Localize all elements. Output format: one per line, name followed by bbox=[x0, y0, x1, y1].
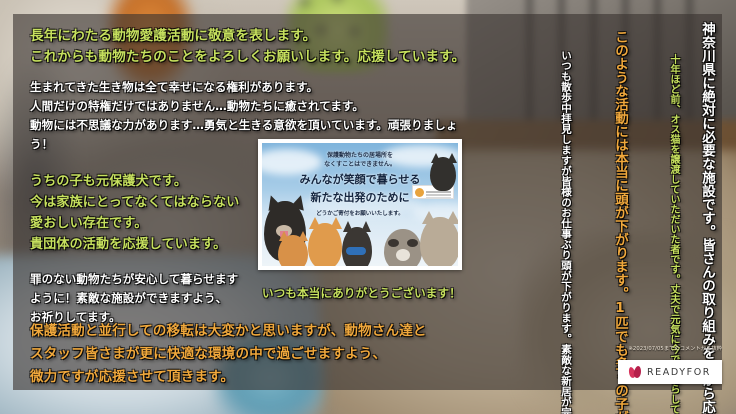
poster-card: 保護動物たちの居場所を なくすことはできません。 みんなが笑顔で暮らせる 新たな… bbox=[258, 139, 462, 270]
orange-body-block: 保護活動と並行しての移転は大変かと思いますが、動物さん達と スタッフ皆さまが更に… bbox=[30, 320, 460, 389]
thanks-line: いつも本当にありがとうございます！ bbox=[262, 285, 461, 301]
orange-body-line-1: 保護活動と並行しての移転は大変かと思いますが、動物さん達と bbox=[30, 320, 460, 343]
green-heading-line-1: 長年にわたる動物愛護活動に敬意を表します。 bbox=[30, 26, 470, 47]
footnote-text: ※2023/07/05までのコメントから抜粋 bbox=[628, 345, 722, 352]
poster-card-image: 保護動物たちの居場所を なくすことはできません。 みんなが笑顔で暮らせる 新たな… bbox=[262, 143, 458, 266]
readyfor-mark-icon bbox=[629, 366, 642, 379]
orange-body-line-3: 微力ですが応援させて頂きます。 bbox=[30, 366, 460, 389]
green-heading-line-2: これからも動物たちのことをよろしくお願いします。応援しています。 bbox=[30, 47, 470, 68]
readyfor-wordmark: READYFOR bbox=[647, 367, 711, 378]
vertical-comment-white-1: 神奈川県に絶対に必要な施設です。皆さんの取り組みを心から応援しています。 bbox=[696, 22, 718, 322]
vertical-comment-white-2: いつも散歩中拝見しますが皆様のお仕事ぶり頭が下がります。素敵な新居が完成しますよ… bbox=[557, 50, 574, 350]
poster-line-small-1: 保護動物たちの居場所を bbox=[262, 151, 458, 160]
white-body-1-line-2: 人間だけの特権だけではありません…動物たちに癒されてます。 bbox=[30, 97, 470, 116]
green-heading-block: 長年にわたる動物愛護活動に敬意を表します。 これからも動物たちのことをよろしくお… bbox=[30, 26, 470, 68]
badge-text-lines bbox=[426, 191, 451, 193]
vertical-comment-orange-1: このような活動には本当に頭が下がります。1匹でも多くの子が幸せになれますように。 bbox=[608, 30, 631, 350]
poster-line-small-2: なくすことはできません。 bbox=[262, 160, 458, 169]
orange-body-line-2: スタッフ皆さまが更に快適な環境の中で過ごせますよう、 bbox=[30, 343, 460, 366]
readyfor-logo: READYFOR bbox=[618, 360, 722, 384]
vertical-comment-green-1: 十年ほど前、オス猫を譲渡していただいた者です。丈夫で元気に今でも暮らしています！… bbox=[665, 54, 682, 322]
screenshot-root: 長年にわたる動物愛護活動に敬意を表します。 これからも動物たちのことをよろしくお… bbox=[0, 0, 736, 414]
white-body-1-line-1: 生まれてきた生き物は全て幸せになる権利があります。 bbox=[30, 78, 470, 97]
badge-logo-icon bbox=[415, 188, 424, 197]
